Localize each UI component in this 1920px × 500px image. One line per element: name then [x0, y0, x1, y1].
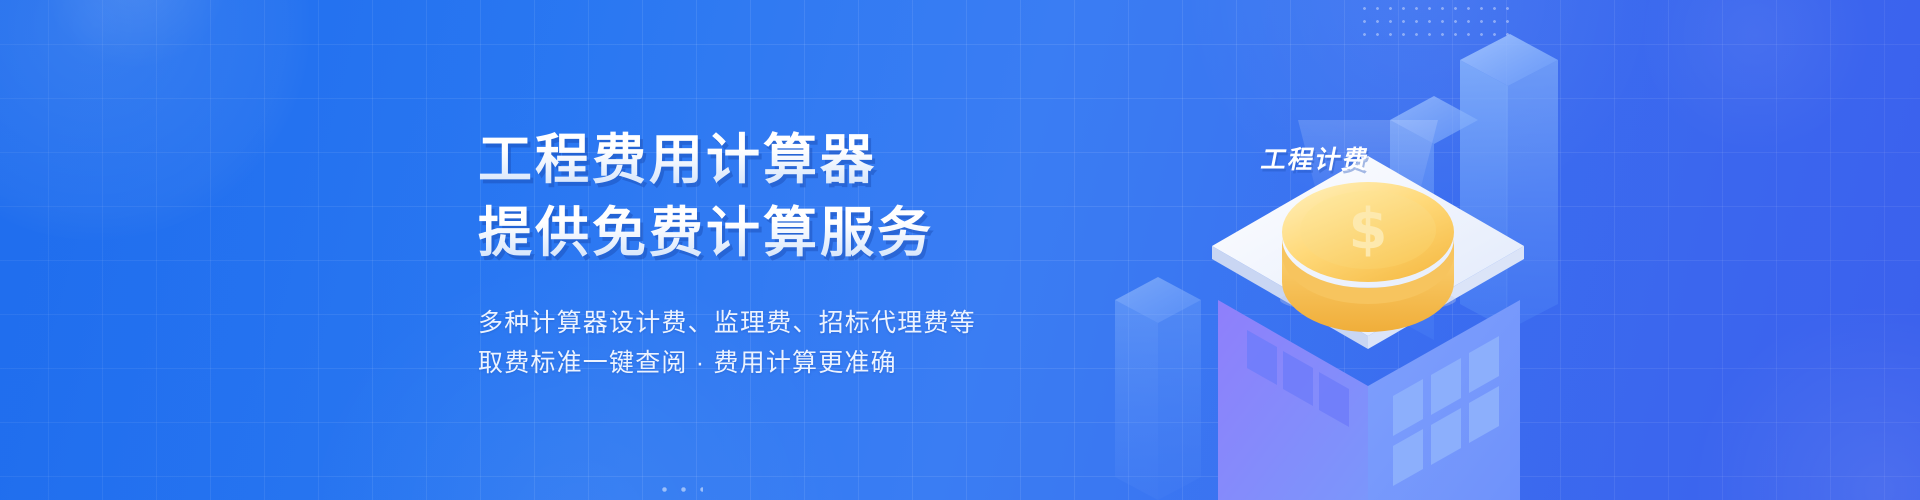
carousel-dots-icon[interactable]	[655, 480, 703, 494]
coin-currency-symbol: $	[1349, 197, 1388, 262]
illustration-svg: $	[1090, 0, 1650, 500]
page-title-line1: 工程费用计算器	[478, 128, 1118, 191]
banner-text-block: 工程费用计算器 提供免费计算服务 多种计算器设计费、监理费、招标代理费等 取费标…	[478, 128, 1118, 383]
page-title-line2: 提供免费计算服务	[478, 201, 1118, 264]
banner-illustration: $ 工程计费	[1090, 0, 1650, 500]
banner-subtitle-block: 多种计算器设计费、监理费、招标代理费等 取费标准一键查阅 · 费用计算更准确	[478, 304, 1118, 383]
decorative-blob	[0, 0, 310, 240]
decorative-blob	[1640, 0, 1870, 150]
art-label: 工程计费	[1259, 140, 1374, 176]
subtitle-line2: 取费标准一键查阅 · 费用计算更准确	[478, 344, 1118, 384]
decorative-blob	[40, 0, 230, 70]
decorative-blob	[1690, 300, 1920, 500]
subtitle-line1: 多种计算器设计费、监理费、招标代理费等	[478, 304, 1118, 344]
hero-banner: 工程费用计算器 提供免费计算服务 多种计算器设计费、监理费、招标代理费等 取费标…	[0, 0, 1920, 500]
gold-coin-icon: $	[1280, 182, 1456, 332]
